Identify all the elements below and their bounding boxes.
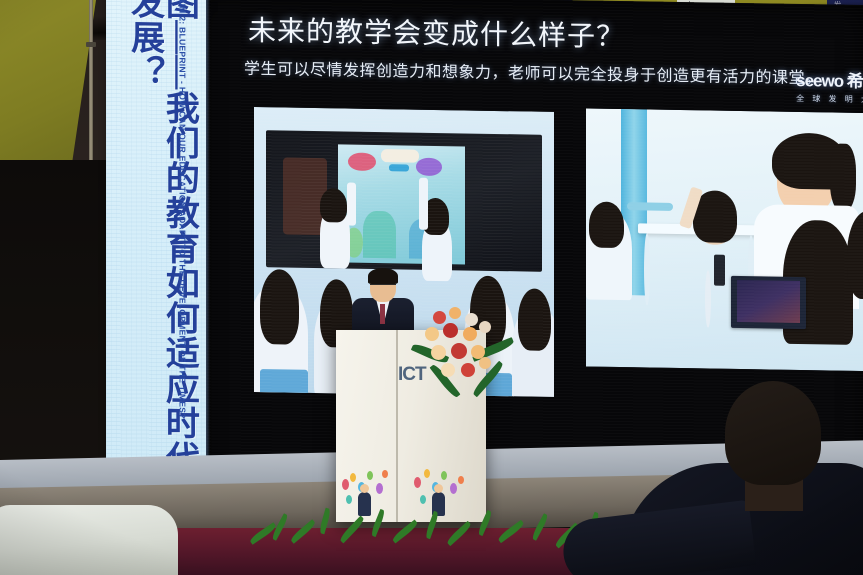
- student-laptop: [731, 276, 806, 329]
- slide-title: 未来的教学会变成什么样子？: [248, 9, 625, 55]
- foreground-audience-member: [623, 366, 863, 575]
- seewo-tagline-text: 全 球 发 明 大: [796, 93, 863, 105]
- flower-arrangement: [415, 305, 520, 410]
- seewo-brand-text: seewo 希: [796, 66, 863, 92]
- conference-photo-scene: 大市 大 CONV 发明 未来的教学会变成什么样子？ 学生可以尽情发挥创造力和想…: [0, 0, 863, 575]
- forum-title-panel: 图——我们的教育如何适应时代发展？ RUM 2: BLUEPRINT - HOW…: [106, 0, 206, 500]
- panel-right-edge: [206, 0, 210, 500]
- foreground-person-head: [725, 381, 821, 485]
- pole-joint-upper: [86, 42, 96, 47]
- forum-title-english: RUM 2: BLUEPRINT - HOW CAN OUR EDUCATION…: [178, 0, 187, 473]
- interactive-whiteboard: [266, 130, 542, 271]
- foreground-sofa: [0, 505, 178, 575]
- seewo-logo: seewo 希 全 球 发 明 大: [796, 66, 863, 105]
- speaker-glasses-icon: [370, 284, 396, 290]
- speaker-hair: [368, 268, 398, 284]
- slide-subtitle: 学生可以尽情发挥创造力和想象力，老师可以完全投身于创造更有活力的课堂。: [244, 55, 822, 89]
- slide-photo-lab: [586, 108, 863, 371]
- podium-artwork: [336, 452, 486, 518]
- speaker-tie: [380, 304, 385, 324]
